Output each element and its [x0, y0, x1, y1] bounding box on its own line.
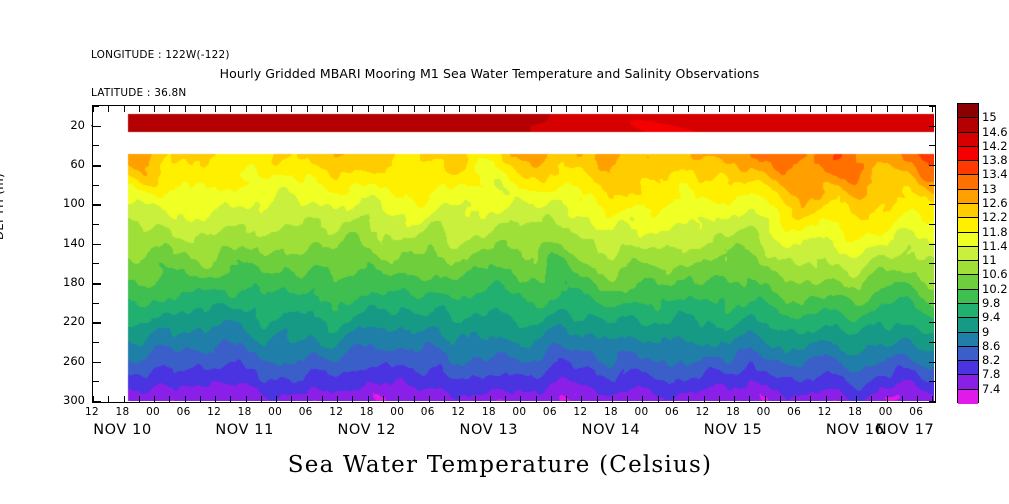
x-axis-tick: [108, 396, 109, 403]
y-axis-tick: [929, 263, 936, 264]
x-axis-tick: [352, 105, 353, 112]
x-axis-hour-label: 18: [726, 406, 740, 418]
y-axis-tick: [92, 283, 101, 285]
x-axis-hour-label: 18: [482, 406, 496, 418]
colorbar-band: [958, 333, 978, 347]
colorbar-tick-label: 12.2: [982, 210, 1008, 224]
x-axis-tick: [627, 396, 628, 403]
y-axis-tick: [929, 401, 936, 402]
plot-area: [92, 105, 936, 403]
colorbar: [957, 103, 979, 403]
y-axis-tick-label: 300: [63, 393, 85, 407]
x-axis-tick: [169, 105, 170, 112]
x-axis-tick: [612, 396, 613, 403]
colorbar-tick-label: 14.6: [982, 125, 1008, 139]
x-axis-tick: [352, 396, 353, 403]
colorbar-band: [958, 318, 978, 332]
colorbar-tick-label: 9: [982, 325, 989, 339]
y-axis-tick: [92, 204, 101, 206]
x-axis-tick: [383, 105, 384, 112]
colorbar-tick-label: 15: [982, 110, 997, 124]
x-axis-tick: [276, 105, 277, 112]
x-axis-tick: [734, 105, 735, 112]
x-axis-tick: [276, 396, 277, 403]
colorbar-tick-label: 9.4: [982, 310, 1000, 324]
y-axis-tick: [92, 224, 99, 225]
colorbar-band: [958, 261, 978, 275]
x-axis-day-label: NOV 15: [704, 422, 763, 438]
x-axis-tick: [780, 396, 781, 403]
x-axis-tick: [230, 396, 231, 403]
y-axis-tick: [92, 165, 101, 167]
x-axis-tick: [704, 105, 705, 112]
colorbar-tick-label: 9.8: [982, 296, 1000, 310]
colorbar-tick-label: 10.2: [982, 282, 1008, 296]
y-axis-tick: [929, 204, 936, 205]
x-axis-tick: [642, 105, 643, 112]
x-axis-tick: [475, 396, 476, 403]
x-axis-tick: [429, 396, 430, 403]
x-axis-tick: [902, 396, 903, 403]
y-axis-tick: [92, 342, 99, 343]
x-axis-tick: [185, 105, 186, 112]
x-axis-tick: [475, 105, 476, 112]
meta-longitude: LONGITUDE : 122W(-122): [91, 49, 230, 62]
chart-title: Hourly Gridded MBARI Mooring M1 Sea Wate…: [0, 66, 1009, 81]
colorbar-band: [958, 347, 978, 361]
x-axis-hour-labels: 1218000612180006121800061218000612180006…: [92, 406, 936, 422]
x-axis-hour-label: 18: [360, 406, 374, 418]
x-axis-tick: [200, 396, 201, 403]
x-axis-tick: [826, 105, 827, 112]
x-axis-hour-label: 00: [268, 406, 282, 418]
x-axis-tick: [765, 105, 766, 112]
x-axis-hour-label: 18: [848, 406, 862, 418]
y-axis-tick-label: 220: [63, 314, 85, 328]
x-axis-tick: [871, 105, 872, 112]
x-axis-tick: [383, 396, 384, 403]
x-axis-tick: [841, 396, 842, 403]
colorbar-tick-label: 8.6: [982, 339, 1000, 353]
x-axis-tick: [658, 396, 659, 403]
x-axis-tick: [139, 396, 140, 403]
colorbar-tick-label: 13.8: [982, 153, 1008, 167]
x-axis-hour-label: 06: [299, 406, 313, 418]
x-axis-tick: [246, 396, 247, 403]
x-axis-tick: [490, 396, 491, 403]
y-axis-tick: [929, 145, 936, 146]
x-axis-tick: [398, 105, 399, 112]
x-axis-tick: [368, 105, 369, 112]
x-axis-hour-label: 18: [238, 406, 252, 418]
y-axis-tick: [929, 322, 936, 323]
x-axis-day-label: NOV 12: [337, 422, 396, 438]
x-axis-tick: [551, 396, 552, 403]
x-axis-tick: [185, 396, 186, 403]
y-axis-tick: [92, 401, 101, 403]
x-axis-tick: [795, 105, 796, 112]
x-axis-tick: [917, 105, 918, 112]
colorbar-band: [958, 375, 978, 389]
x-axis-tick: [917, 396, 918, 403]
x-axis-tick: [581, 105, 582, 112]
colorbar-band: [958, 275, 978, 289]
y-axis-tick-label: 140: [63, 236, 85, 250]
y-axis-tick: [92, 145, 99, 146]
x-axis-tick: [642, 396, 643, 403]
y-axis-tick-label: 20: [70, 118, 85, 132]
y-axis-tick-label: 260: [63, 354, 85, 368]
colorbar-band: [958, 390, 978, 404]
x-axis-tick: [856, 396, 857, 403]
x-axis-tick: [536, 105, 537, 112]
x-axis-hour-label: 06: [543, 406, 557, 418]
y-axis-tick: [929, 303, 936, 304]
colorbar-tick-label: 10.6: [982, 267, 1008, 281]
x-axis-tick: [429, 105, 430, 112]
x-axis-tick: [719, 396, 720, 403]
colorbar-band: [958, 175, 978, 189]
chart-title-text: Hourly Gridded MBARI Mooring M1 Sea Wate…: [220, 66, 760, 81]
x-axis-tick: [826, 396, 827, 403]
colorbar-tick-label: 7.4: [982, 382, 1000, 396]
x-axis-tick: [459, 396, 460, 403]
x-axis-tick: [887, 105, 888, 112]
x-axis-tick: [505, 105, 506, 112]
colorbar-tick-label: 13.4: [982, 167, 1008, 181]
x-axis-tick: [490, 105, 491, 112]
x-axis-tick: [520, 396, 521, 403]
x-axis-tick: [765, 396, 766, 403]
x-axis-tick: [536, 396, 537, 403]
colorbar-band: [958, 233, 978, 247]
x-axis-tick: [337, 105, 338, 112]
colorbar-tick-label: 13: [982, 182, 997, 196]
x-axis-hour-label: 00: [390, 406, 404, 418]
y-axis-tick-label: 180: [63, 275, 85, 289]
x-axis-tick: [597, 396, 598, 403]
x-axis-tick: [307, 396, 308, 403]
colorbar-tick-label: 14.2: [982, 139, 1008, 153]
x-axis-tick: [581, 396, 582, 403]
colorbar-band: [958, 304, 978, 318]
x-axis-tick: [200, 105, 201, 112]
x-axis-hour-label: 12: [451, 406, 465, 418]
y-axis-tick: [929, 342, 936, 343]
x-axis-tick: [505, 396, 506, 403]
x-axis-tick: [307, 105, 308, 112]
colorbar-band: [958, 204, 978, 218]
x-axis-tick: [627, 105, 628, 112]
y-axis-tick: [929, 165, 936, 166]
x-axis-hour-label: 12: [696, 406, 710, 418]
colorbar-tick-label: 11.4: [982, 239, 1008, 253]
x-axis-tick: [444, 105, 445, 112]
x-axis-tick: [154, 105, 155, 112]
x-axis-tick: [261, 105, 262, 112]
x-axis-tick: [749, 105, 750, 112]
x-axis-tick: [124, 396, 125, 403]
x-axis-tick: [704, 396, 705, 403]
variable-title-text: Sea Water Temperature (Celsius): [288, 452, 712, 478]
x-axis-tick: [124, 105, 125, 112]
x-axis-tick: [169, 396, 170, 403]
colorbar-tick-label: 11: [982, 253, 997, 267]
y-axis-tick: [92, 303, 99, 304]
x-axis-day-label: NOV 10: [93, 422, 152, 438]
x-axis-tick: [887, 396, 888, 403]
x-axis-hour-label: 12: [329, 406, 343, 418]
x-axis-tick: [154, 396, 155, 403]
x-axis-tick: [291, 396, 292, 403]
x-axis-tick: [551, 105, 552, 112]
y-axis-tick-label: 100: [63, 196, 85, 210]
x-axis-tick: [780, 105, 781, 112]
x-axis-hour-label: 06: [909, 406, 923, 418]
x-axis-tick: [230, 105, 231, 112]
colorbar-band: [958, 247, 978, 261]
x-axis-hour-label: 00: [757, 406, 771, 418]
y-axis-tick: [929, 381, 936, 382]
x-axis-tick: [246, 105, 247, 112]
colorbar-band: [958, 104, 978, 118]
x-axis-hour-label: 00: [512, 406, 526, 418]
x-axis-hour-label: 06: [177, 406, 191, 418]
x-axis-hour-label: 06: [665, 406, 679, 418]
x-axis-tick: [688, 396, 689, 403]
x-axis-hour-label: 06: [421, 406, 435, 418]
x-axis-day-label: NOV 14: [582, 422, 641, 438]
x-axis-tick: [139, 105, 140, 112]
y-axis-tick: [929, 362, 936, 363]
x-axis-day-label: NOV 17: [876, 422, 935, 438]
x-axis-tick: [337, 396, 338, 403]
x-axis-hour-label: 12: [573, 406, 587, 418]
x-axis-hour-label: 00: [146, 406, 160, 418]
meta-latitude: LATITUDE : 36.8N: [91, 87, 230, 100]
x-axis-tick: [871, 396, 872, 403]
y-axis-tick: [92, 106, 99, 107]
x-axis-tick: [108, 105, 109, 112]
y-axis-tick: [929, 126, 936, 127]
x-axis-tick: [261, 396, 262, 403]
colorbar-band: [958, 147, 978, 161]
x-axis-tick: [673, 396, 674, 403]
colorbar-band: [958, 133, 978, 147]
x-axis-tick: [398, 396, 399, 403]
x-axis-tick: [459, 105, 460, 112]
x-axis-tick: [368, 396, 369, 403]
x-axis-tick: [414, 396, 415, 403]
x-axis-tick: [902, 105, 903, 112]
x-axis-hour-label: 12: [207, 406, 221, 418]
x-axis-hour-label: 00: [634, 406, 648, 418]
x-axis-tick: [734, 396, 735, 403]
temperature-heatmap: [93, 106, 934, 401]
y-axis-title: DEPTH (m): [0, 173, 6, 240]
x-axis-tick: [215, 105, 216, 112]
x-axis-tick: [856, 105, 857, 112]
y-axis-tick: [92, 362, 101, 364]
colorbar-band: [958, 161, 978, 175]
x-axis-hour-label: 00: [879, 406, 893, 418]
x-axis-tick: [322, 396, 323, 403]
y-axis-tick: [92, 322, 101, 324]
x-axis-tick: [414, 105, 415, 112]
x-axis-tick: [566, 105, 567, 112]
y-axis-tick-label: 60: [70, 157, 85, 171]
x-axis-hour-label: 18: [116, 406, 130, 418]
colorbar-tick-label: 11.8: [982, 225, 1008, 239]
colorbar-band: [958, 361, 978, 375]
x-axis-hour-label: 18: [604, 406, 618, 418]
x-axis-hour-label: 12: [85, 406, 99, 418]
x-axis-tick: [658, 105, 659, 112]
x-axis-tick: [749, 396, 750, 403]
colorbar-tick-label: 8.2: [982, 353, 1000, 367]
y-axis-tick: [929, 185, 936, 186]
x-axis-tick: [719, 105, 720, 112]
x-axis-day-label: NOV 11: [215, 422, 274, 438]
y-axis-tick: [92, 381, 99, 382]
x-axis-day-label: NOV 13: [460, 422, 519, 438]
x-axis-tick: [810, 105, 811, 112]
colorbar-band: [958, 190, 978, 204]
x-axis-tick: [841, 105, 842, 112]
x-axis-tick: [215, 396, 216, 403]
x-axis-tick: [597, 105, 598, 112]
x-axis-tick: [612, 105, 613, 112]
colorbar-labels: 1514.614.213.813.41312.612.211.811.41110…: [982, 103, 1009, 403]
x-axis-tick: [810, 396, 811, 403]
y-axis-tick: [929, 224, 936, 225]
x-axis-tick: [688, 105, 689, 112]
y-axis-labels: 2060100140180220260300: [40, 105, 85, 403]
y-axis-tick: [92, 185, 99, 186]
y-axis-tick: [929, 244, 936, 245]
x-axis-tick: [322, 105, 323, 112]
colorbar-tick-label: 12.6: [982, 196, 1008, 210]
y-axis-tick: [929, 283, 936, 284]
colorbar-band: [958, 290, 978, 304]
x-axis-tick: [566, 396, 567, 403]
x-axis-tick: [520, 105, 521, 112]
x-axis-hour-label: 06: [787, 406, 801, 418]
x-axis-tick: [444, 396, 445, 403]
colorbar-band: [958, 118, 978, 132]
variable-title: Sea Water Temperature (Celsius): [0, 452, 1009, 478]
x-axis-tick: [291, 105, 292, 112]
y-axis-tick: [929, 106, 936, 107]
y-axis-tick: [92, 244, 101, 246]
x-axis-tick: [673, 105, 674, 112]
y-axis-tick: [92, 126, 101, 128]
y-axis-tick: [92, 263, 99, 264]
x-axis-day-labels: NOV 10NOV 11NOV 12NOV 13NOV 14NOV 15NOV …: [92, 422, 936, 446]
colorbar-band: [958, 218, 978, 232]
colorbar-tick-label: 7.8: [982, 367, 1000, 381]
x-axis-hour-label: 12: [818, 406, 832, 418]
x-axis-tick: [795, 396, 796, 403]
